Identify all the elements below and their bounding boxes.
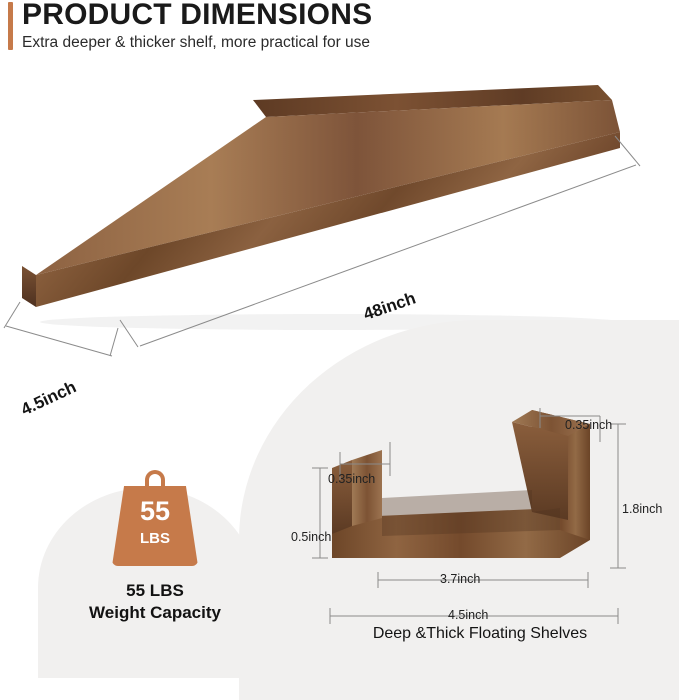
cross-section-diagram: 0.35inch 0.35inch 0.5inch 1.8inch 3.7inc… xyxy=(300,390,660,650)
length-leader-right xyxy=(615,136,640,166)
depth-leader-bottom xyxy=(110,328,118,356)
accent-bar xyxy=(8,2,13,50)
cs-label-lip-thickness-top: 0.35inch xyxy=(565,418,612,432)
depth-dimension-line xyxy=(6,326,112,356)
cs-label-total-width: 4.5inch xyxy=(448,608,488,622)
cs-label-total-height: 1.8inch xyxy=(622,502,662,516)
weight-number: 55 xyxy=(112,496,198,527)
cs-label-inner-width: 3.7inch xyxy=(440,572,480,586)
depth-leader-top xyxy=(4,302,20,328)
cs-label-lip-thickness-left: 0.35inch xyxy=(328,472,375,486)
weight-capacity-block: 55 LBS 55 LBS Weight Capacity xyxy=(60,480,250,624)
shelf-top-face xyxy=(36,100,620,275)
cross-section-caption: Deep &Thick Floating Shelves xyxy=(300,625,660,643)
weight-caption-line1: 55 LBS xyxy=(60,580,250,602)
cs-left-lip xyxy=(352,450,382,526)
weight-unit: LBS xyxy=(112,530,198,547)
cs-label-lip-height: 0.5inch xyxy=(291,530,331,544)
page-subtitle: Extra deeper & thicker shelf, more pract… xyxy=(22,34,370,52)
weight-caption: 55 LBS Weight Capacity xyxy=(60,580,250,624)
weight-handle-shape xyxy=(145,470,165,488)
shelf-left-end xyxy=(22,266,36,307)
weight-badge-icon: 55 LBS xyxy=(112,480,198,566)
page-title: PRODUCT DIMENSIONS xyxy=(22,0,372,32)
lower-section: 55 LBS 55 LBS Weight Capacity xyxy=(0,380,679,679)
weight-caption-line2: Weight Capacity xyxy=(60,602,250,624)
product-dimensions-page: PRODUCT DIMENSIONS Extra deeper & thicke… xyxy=(0,0,679,679)
